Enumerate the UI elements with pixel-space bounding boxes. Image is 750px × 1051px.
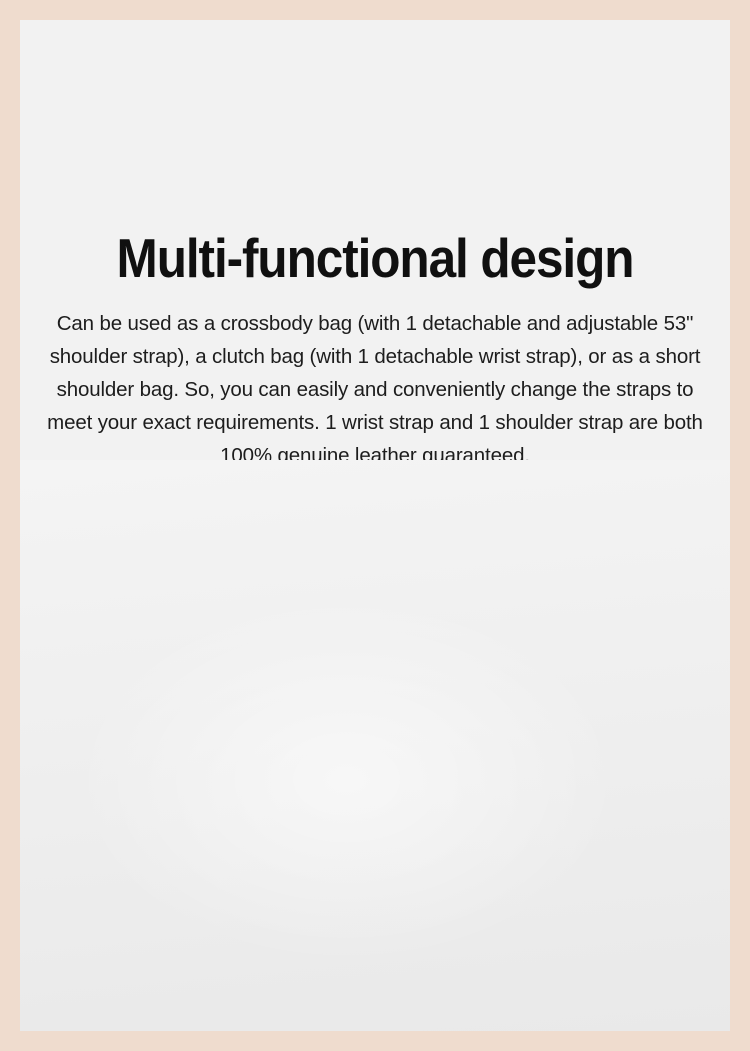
leather-bag-illustration: milrooy milrooy xyxy=(20,460,730,1031)
strap-adjuster-buckle xyxy=(490,780,503,814)
product-description: Can be used as a crossbody bag (with 1 d… xyxy=(42,307,708,472)
product-photo: milrooy milrooy xyxy=(20,460,730,1031)
page-title: Multi-functional design xyxy=(56,227,695,289)
promo-inner-panel: Multi-functional design Can be used as a… xyxy=(20,20,730,1031)
promo-card: Multi-functional design Can be used as a… xyxy=(0,0,750,1051)
